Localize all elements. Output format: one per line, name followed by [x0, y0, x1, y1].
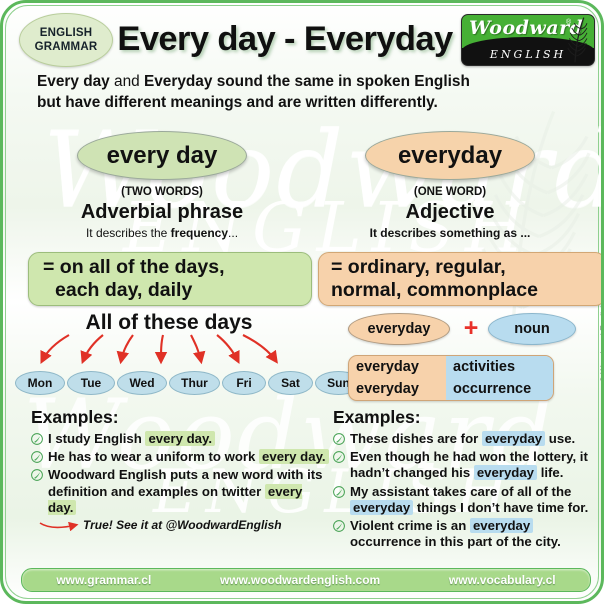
day-bubble-thur: Thur: [169, 371, 220, 395]
fern-leaf-icon: [558, 16, 592, 64]
examples-left-section: Examples: I study English every day. He …: [31, 407, 331, 532]
day-bubble-wed: Wed: [117, 371, 167, 395]
leaf-check-icon: [333, 486, 345, 498]
example-highlight: every day.: [259, 449, 329, 464]
day-bubble-fri: Fri: [222, 371, 266, 395]
every-day-definition-box: = on all of the days, each day, daily: [28, 252, 312, 306]
example-highlight: everyday: [470, 518, 533, 533]
day-bubble-tue: Tue: [67, 371, 115, 395]
intro-line2: but have different meanings and are writ…: [37, 94, 438, 111]
example-highlight: everyday: [474, 465, 537, 480]
leaf-check-icon: [333, 433, 345, 445]
example-highlight: every day.: [145, 431, 215, 446]
list-item: He has to wear a uniform to work every d…: [31, 449, 331, 465]
formula-everyday-pill: everyday: [348, 313, 450, 345]
examples-right-section: Examples: These dishes are for everyday …: [333, 407, 601, 552]
left-part-of-speech: Adverbial phrase: [19, 201, 305, 224]
examples-left-title: Examples:: [31, 407, 331, 428]
everyday-noun-combinations-table: everyday activities everyday occurrence: [348, 355, 554, 401]
leaf-check-icon: [31, 451, 43, 463]
intro-and: and: [110, 73, 144, 90]
table-row: everyday occurrence: [349, 378, 553, 400]
intro-text: Every day and Everyday sound the same in…: [37, 71, 573, 113]
examples-right-title: Examples:: [333, 407, 601, 428]
leaf-check-icon: [31, 469, 43, 481]
example-highlight: everyday: [350, 500, 413, 515]
everyday-definition-box: = ordinary, regular, normal, commonplace: [318, 252, 604, 306]
left-describes-prefix: It describes the: [86, 226, 171, 240]
leaf-check-icon: [31, 433, 43, 445]
combination-adjective-2: everyday: [349, 381, 446, 397]
left-describes-bold: frequency: [171, 226, 228, 240]
footer-link-vocabulary[interactable]: www.vocabulary.cl: [449, 573, 556, 587]
left-word-count-note: (TWO WORDS): [19, 186, 305, 198]
example-text-tail: life.: [537, 465, 563, 480]
header: ENGLISH GRAMMAR Every day - Everyday Woo…: [3, 7, 604, 69]
list-item: These dishes are for everyday use.: [333, 431, 601, 447]
intro-bold-every-day: Every day: [37, 73, 110, 90]
everyday-plus-noun-formula: everyday + noun: [348, 313, 588, 347]
combination-adjective-1: everyday: [349, 359, 446, 375]
leaf-check-icon: [333, 451, 345, 463]
example-text-tail: occurrence in this part of the city.: [350, 534, 561, 549]
day-bubble-mon: Mon: [15, 371, 65, 395]
note-arrow-icon: [39, 519, 81, 531]
all-of-these-days-title: All of these days: [19, 311, 319, 335]
list-item: Woodward English puts a new word with it…: [31, 467, 331, 516]
twitter-note: True! See it at @WoodwardEnglish: [31, 518, 331, 532]
left-definition-line-1: = on all of the days,: [43, 256, 225, 279]
woodward-english-logo: Woodward ® ENGLISH: [461, 14, 595, 66]
left-describes-text: It describes the frequency...: [19, 226, 305, 240]
days-arrows-icon: [11, 333, 321, 375]
footer-link-grammar[interactable]: www.grammar.cl: [56, 573, 151, 587]
right-column-heading: everyday (ONE WORD) Adjective It describ…: [307, 131, 593, 240]
intro-bold-everyday: Everyday: [144, 73, 212, 90]
footer-links-bar: www.grammar.cl www.woodwardenglish.com w…: [21, 568, 591, 592]
example-text-tail: things I don’t have time for.: [413, 500, 588, 515]
list-item: I study English every day.: [31, 431, 331, 447]
badge-line-1: ENGLISH: [40, 26, 93, 40]
copyright-notice: © Woodward English: [598, 303, 604, 382]
example-text: I study English: [48, 431, 145, 446]
footer-link-woodwardenglish[interactable]: www.woodwardenglish.com: [220, 573, 380, 587]
page-title: Every day - Everyday: [115, 13, 455, 65]
left-definition-line-2: each day, daily: [43, 279, 225, 302]
example-highlight: everyday: [482, 431, 545, 446]
everyday-pill: everyday: [365, 131, 535, 180]
left-describes-suffix: ...: [228, 226, 238, 240]
example-text: My assistant takes care of all of the: [350, 484, 571, 499]
example-text: He has to wear a uniform to work: [48, 449, 259, 464]
table-row: everyday activities: [349, 356, 553, 378]
leaf-check-icon: [333, 520, 345, 532]
right-part-of-speech: Adjective: [307, 201, 593, 224]
example-text-tail: use.: [545, 431, 575, 446]
left-column-heading: every day (TWO WORDS) Adverbial phrase I…: [19, 131, 305, 240]
right-word-count-note: (ONE WORD): [307, 186, 593, 198]
day-bubble-sat: Sat: [268, 371, 313, 395]
list-item: Violent crime is an everyday occurrence …: [333, 518, 601, 550]
english-grammar-badge: ENGLISH GRAMMAR: [19, 13, 113, 67]
every-day-pill: every day: [77, 131, 247, 180]
right-definition-line-2: normal, commonplace: [331, 279, 538, 302]
example-text: These dishes are for: [350, 431, 482, 446]
combination-noun-2: occurrence: [446, 381, 553, 397]
example-text: Violent crime is an: [350, 518, 470, 533]
right-definition-line-1: = ordinary, regular,: [331, 256, 538, 279]
infographic-poster: Woodward ENGLISH Woodward ENGLISH ENGLIS…: [0, 0, 604, 604]
plus-icon: +: [458, 314, 484, 342]
right-describes-text: It describes something as ...: [307, 226, 593, 240]
note-text: True! See it at @WoodwardEnglish: [83, 518, 282, 532]
formula-noun-pill: noun: [488, 313, 576, 345]
list-item: My assistant takes care of all of the ev…: [333, 484, 601, 516]
combination-noun-1: activities: [446, 359, 553, 375]
days-bubbles: Mon Tue Wed Thur Fri Sat Sun: [11, 371, 323, 395]
badge-line-2: GRAMMAR: [35, 40, 98, 54]
list-item: Even though he had won the lottery, it h…: [333, 449, 601, 481]
intro-line1-rest: sound the same in spoken English: [212, 73, 469, 90]
